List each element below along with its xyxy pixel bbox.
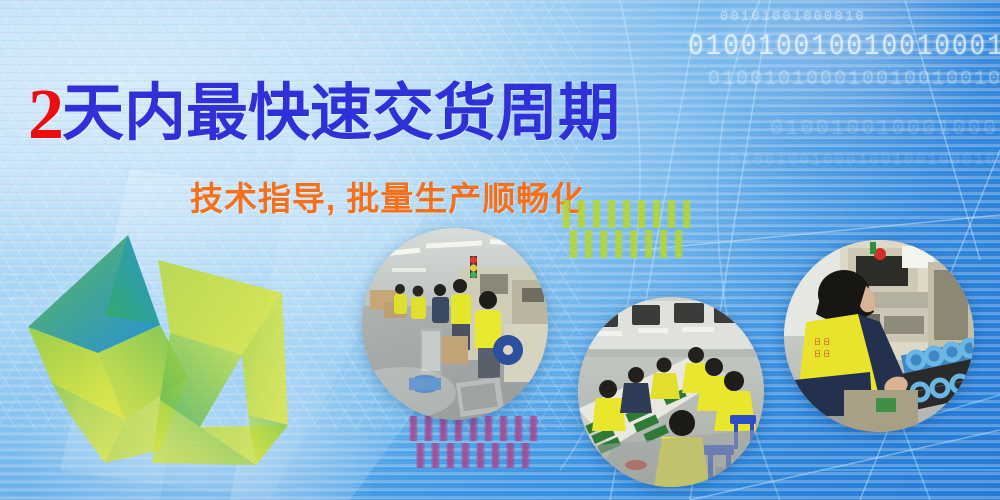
headline-number: 2 [28, 74, 64, 154]
subheadline: 技术指导, 批量生产顺畅化 [190, 172, 584, 220]
green-bar-block [560, 198, 696, 260]
photo-assembly-bench-image [578, 297, 764, 487]
svg-text:日 日: 日 日 [814, 350, 830, 358]
promo-banner: 00101001000010 0100100100100100010001001… [0, 0, 1000, 500]
photo-factory-aisle-image [362, 228, 548, 420]
photo-machine-operator-image: 日 日 日 日 [784, 240, 974, 432]
abstract-diamond-square-logo [10, 215, 330, 490]
headline-text: 天内最快速交货周期 [62, 79, 620, 148]
svg-text:日 日: 日 日 [814, 338, 830, 346]
photo-assembly-bench [578, 297, 764, 487]
photo-factory-aisle [362, 228, 548, 420]
headline: 2天内最快速交货周期 [28, 78, 620, 150]
purple-bar-block [407, 414, 543, 470]
photo-machine-operator: 日 日 日 日 [784, 240, 974, 432]
